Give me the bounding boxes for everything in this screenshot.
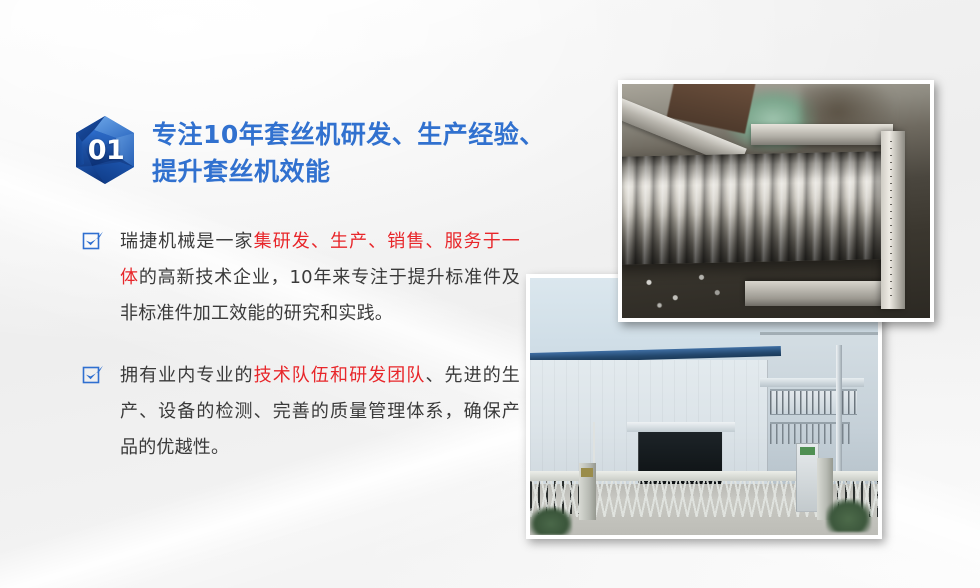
annex-balcony-slab xyxy=(760,378,864,387)
list-item: 瑞捷机械是一家集研发、生产、销售、服务于一体的高新技术企业，10年来专注于提升标… xyxy=(82,224,542,332)
door-lintel xyxy=(627,422,735,432)
caliper-upper-jaw xyxy=(751,124,893,145)
bush-right xyxy=(826,499,871,532)
list-item-text: 瑞捷机械是一家集研发、生产、销售、服务于一体的高新技术企业，10年来专注于提升标… xyxy=(120,224,520,332)
check-box-icon xyxy=(82,363,104,385)
title-line-1: 专注10年套丝机研发、生产经验、 xyxy=(152,116,545,153)
threaded-pipe-photo xyxy=(618,80,934,322)
list-item: 拥有业内专业的技术队伍和研发团队、先进的生产、设备的检测、完善的质量管理体系，确… xyxy=(82,358,542,466)
background-top-sheen xyxy=(0,0,700,120)
guard-door xyxy=(796,443,819,512)
page-title: 专注10年套丝机研发、生产经验、 提升套丝机效能 xyxy=(152,112,545,190)
caliper-scale-beam xyxy=(881,131,906,309)
gate-post-left xyxy=(579,463,596,520)
text-content-column: 01 专注10年套丝机研发、生产经验、 提升套丝机效能 瑞捷机械是一家集研发、生… xyxy=(72,112,542,466)
list-item-text: 拥有业内专业的技术队伍和研发团队、先进的生产、设备的检测、完善的质量管理体系，确… xyxy=(120,358,520,466)
check-box-icon xyxy=(82,229,104,251)
title-line-2: 提升套丝机效能 xyxy=(152,153,545,190)
heading-row: 01 专注10年套丝机研发、生产经验、 提升套丝机效能 xyxy=(72,112,542,190)
thread-shading xyxy=(618,151,888,264)
feature-list: 瑞捷机械是一家集研发、生产、销售、服务于一体的高新技术企业，10年来专注于提升标… xyxy=(82,224,542,466)
bush-left xyxy=(530,507,572,535)
caliper-lower-jaw xyxy=(745,281,899,307)
highlighted-text: 技术队伍和研发团队 xyxy=(254,365,426,386)
balcony-railing-upper xyxy=(770,389,857,415)
plain-text: 瑞捷机械是一家 xyxy=(120,231,254,252)
step-number-badge: 01 xyxy=(72,114,138,186)
step-number-label: 01 xyxy=(72,114,139,186)
metal-chips xyxy=(628,262,733,313)
plain-text: 的高新技术企业，10年来专注于提升标准件及非标准件加工效能的研究和实践。 xyxy=(120,267,520,324)
threaded-pipe xyxy=(618,151,888,264)
promo-banner: 01 专注10年套丝机研发、生产经验、 提升套丝机效能 瑞捷机械是一家集研发、生… xyxy=(0,0,980,588)
plain-text: 拥有业内专业的 xyxy=(120,365,254,386)
